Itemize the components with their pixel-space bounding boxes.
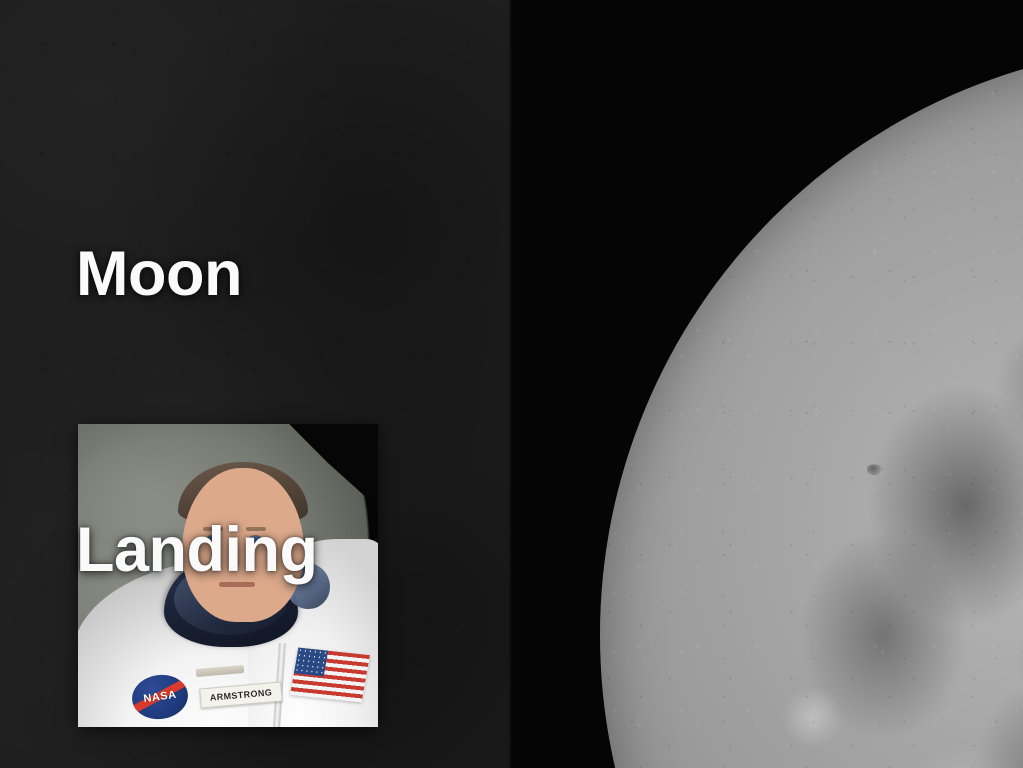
presentation-slide: Moon Landing Diary Unit of Work NASA ARM… <box>0 0 1023 768</box>
moon-crater-small <box>866 464 883 475</box>
title-line-2: Landing <box>76 504 696 596</box>
title-line-1: Moon <box>76 228 696 320</box>
slide-title: Moon Landing Diary Unit of Work <box>76 44 696 768</box>
